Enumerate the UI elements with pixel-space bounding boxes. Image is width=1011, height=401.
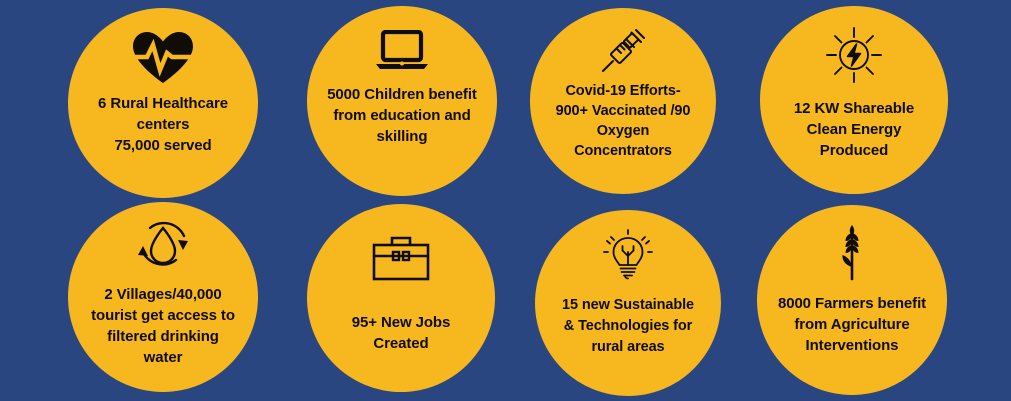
stat-circle-water: 2 Villages/40,000 tourist get access to … xyxy=(68,202,258,392)
stat-text-jobs: 95+ New Jobs Created xyxy=(309,312,493,354)
stat-text-covid: Covid-19 Efforts- 900+ Vaccinated /90 Ox… xyxy=(532,81,714,161)
lightbulb-idea-icon xyxy=(600,228,656,284)
stat-circle-healthcare: 6 Rural Healthcare centers 75,000 served xyxy=(68,8,258,198)
stat-circle-agriculture: 8000 Farmers benefit from Agriculture In… xyxy=(757,205,947,395)
stat-text-energy: 12 KW Shareable Clean Energy Produced xyxy=(762,98,946,161)
briefcase-icon xyxy=(371,234,431,282)
impact-stats-infographic: 6 Rural Healthcare centers 75,000 served… xyxy=(0,0,1011,401)
stat-circle-tech: 15 new Sustainable & Technologies for ru… xyxy=(535,210,721,396)
stat-text-agriculture: 8000 Farmers benefit from Agriculture In… xyxy=(758,293,946,356)
stat-text-healthcare: 6 Rural Healthcare centers 75,000 served xyxy=(73,93,253,156)
solar-energy-icon xyxy=(825,26,883,84)
stat-circle-covid: Covid-19 Efforts- 900+ Vaccinated /90 Ox… xyxy=(530,8,716,194)
stat-text-water: 2 Villages/40,000 tourist get access to … xyxy=(70,284,256,368)
stat-text-education: 5000 Children benefit from education and… xyxy=(308,84,496,147)
stat-circle-energy: 12 KW Shareable Clean Energy Produced xyxy=(760,6,948,194)
wheat-stalk-icon xyxy=(830,223,874,281)
stat-text-tech: 15 new Sustainable & Technologies for ru… xyxy=(536,295,720,358)
syringe-icon xyxy=(600,28,646,74)
heart-pulse-icon xyxy=(130,30,196,84)
laptop-icon xyxy=(374,30,430,72)
stat-circle-education: 5000 Children benefit from education and… xyxy=(307,6,497,196)
stat-circle-jobs: 95+ New Jobs Created xyxy=(307,204,495,392)
water-recycle-icon xyxy=(132,220,194,276)
